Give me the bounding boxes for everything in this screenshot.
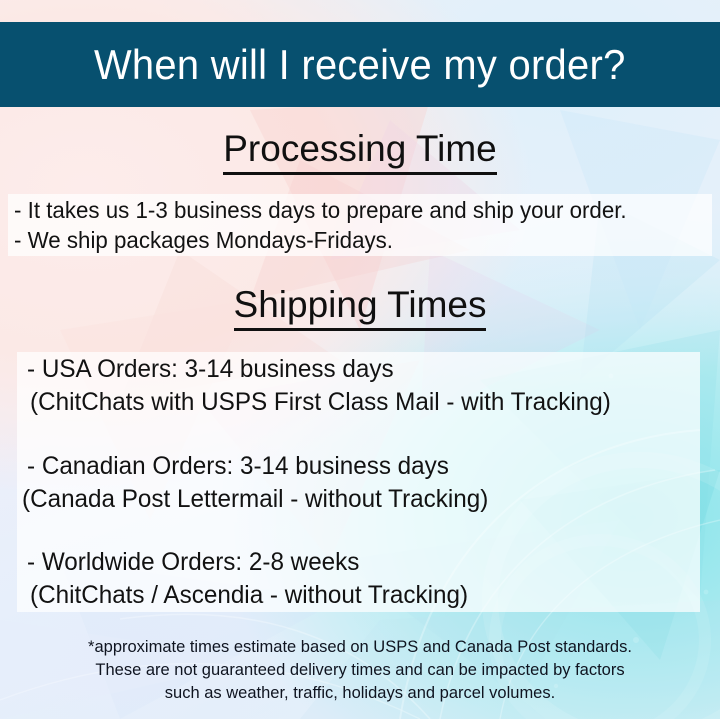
shipping-entry-canada-title: - Canadian Orders: 3-14 business days (27, 452, 449, 481)
header-banner: When will I receive my order? (0, 22, 720, 107)
shipping-entry-usa-detail: (ChitChats with USPS First Class Mail - … (30, 388, 611, 417)
section-heading-shipping-label: Shipping Times (234, 284, 487, 331)
footnote-line-1: *approximate times estimate based on USP… (0, 636, 720, 659)
section-heading-processing-label: Processing Time (223, 128, 497, 175)
page-title: When will I receive my order? (94, 44, 626, 86)
shipping-entry-usa-title: - USA Orders: 3-14 business days (27, 355, 394, 384)
footnote-line-3: such as weather, traffic, holidays and p… (0, 682, 720, 705)
section-heading-processing: Processing Time (0, 128, 720, 170)
shipping-faq-infographic: When will I receive my order? Processing… (0, 0, 720, 719)
footnote-line-2: These are not guaranteed delivery times … (0, 659, 720, 682)
shipping-entry-worldwide-detail: (ChitChats / Ascendia - without Tracking… (30, 581, 468, 610)
shipping-entry-worldwide-title: - Worldwide Orders: 2-8 weeks (27, 548, 359, 577)
processing-line-1: - It takes us 1-3 business days to prepa… (14, 197, 627, 224)
section-heading-shipping: Shipping Times (0, 284, 720, 326)
shipping-entry-canada-detail: (Canada Post Lettermail - without Tracki… (22, 485, 488, 514)
footnote: *approximate times estimate based on USP… (0, 636, 720, 705)
processing-line-2: - We ship packages Mondays-Fridays. (14, 227, 393, 254)
